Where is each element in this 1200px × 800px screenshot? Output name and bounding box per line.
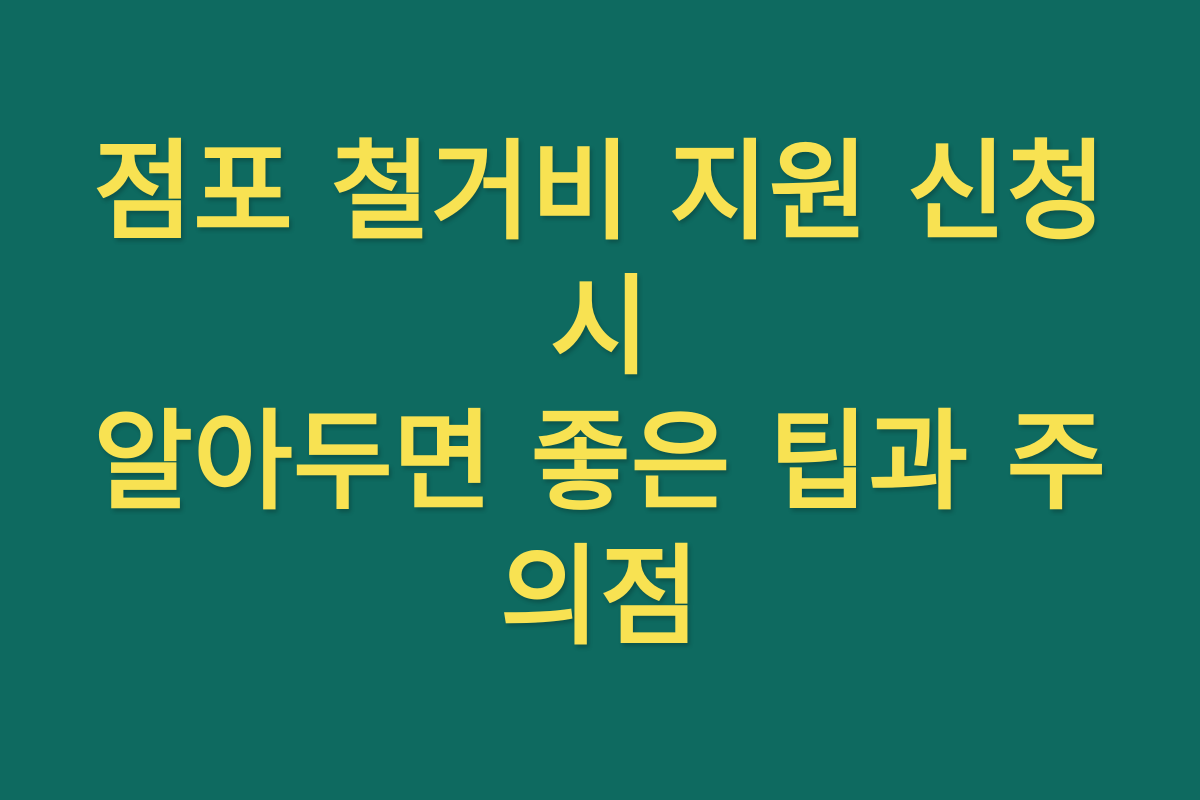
page-title: 점포 철거비 지원 신청 시 알아두면 좋은 팁과 주 의점 — [85, 125, 1115, 665]
headline-line-3: 의점 — [85, 530, 1115, 665]
headline-line-1: 점포 철거비 지원 신청 시 — [85, 125, 1115, 395]
headline-line-2: 알아두면 좋은 팁과 주 — [85, 395, 1115, 530]
title-card: 점포 철거비 지원 신청 시 알아두면 좋은 팁과 주 의점 — [0, 0, 1200, 800]
